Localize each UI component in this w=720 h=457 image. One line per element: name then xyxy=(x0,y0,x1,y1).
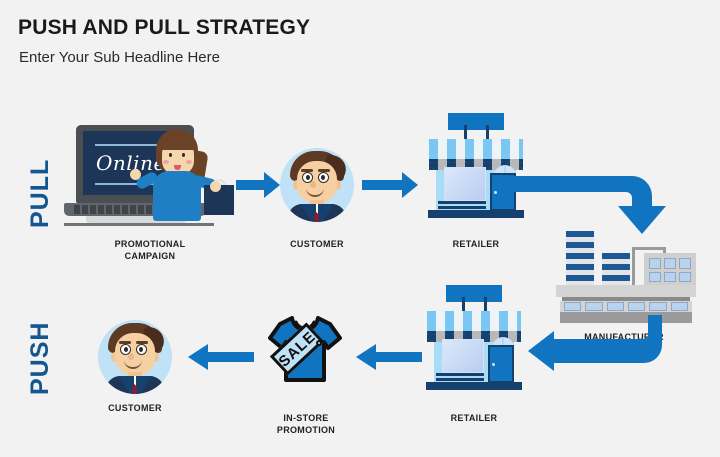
store-display-window-2 xyxy=(442,339,484,373)
avatar-nose xyxy=(310,181,316,188)
page-title: PUSH AND PULL STRATEGY xyxy=(18,16,310,40)
store-step-lower xyxy=(438,206,486,209)
factory-icon[interactable] xyxy=(550,225,698,323)
tshirt-sale-icon[interactable]: SALE xyxy=(266,312,344,390)
avatar-pupil-right-2 xyxy=(139,347,143,352)
avatar-pupil-left xyxy=(306,175,310,180)
store-step-lower-2 xyxy=(436,378,484,381)
factory-pipe-top xyxy=(632,247,666,250)
row-label-pull: PULL xyxy=(26,159,55,228)
woman-cheek-right xyxy=(186,160,192,164)
factory-roof-band xyxy=(556,285,696,297)
woman-eye-right xyxy=(182,153,185,157)
caption-customer-top: CUSTOMER xyxy=(272,238,362,250)
arrow-manufacturer-to-retailer xyxy=(522,315,662,377)
store-step-upper xyxy=(438,201,486,204)
customer-avatar-icon-top[interactable] xyxy=(280,148,354,222)
factory-annex-windows xyxy=(649,258,691,282)
arrow-retailer-to-promotion xyxy=(356,344,422,370)
laptop-online-icon[interactable]: Online xyxy=(64,125,214,225)
woman-cheek-left xyxy=(163,160,169,164)
avatar-pupil-right xyxy=(321,175,325,180)
caption-retailer-bottom: RETAILER xyxy=(426,412,522,424)
caption-in-store-promotion: IN-STORE PROMOTION xyxy=(258,412,354,436)
store-step-upper-2 xyxy=(436,373,484,376)
store-display-window xyxy=(444,167,486,201)
factory-tower-tall xyxy=(566,231,594,287)
woman-hand-right xyxy=(210,181,221,192)
laptop-shelf-line xyxy=(64,223,214,226)
caption-promotional-campaign: PROMOTIONAL CAMPAIGN xyxy=(90,238,210,262)
avatar-circle-top xyxy=(280,148,354,222)
store-awning xyxy=(429,139,523,161)
caption-customer-bottom: CUSTOMER xyxy=(90,402,180,414)
woman-hand-left xyxy=(130,169,141,180)
store-base-2 xyxy=(426,382,522,390)
woman-eye-left xyxy=(169,153,172,157)
factory-pipe-left xyxy=(632,247,635,287)
woman-shopper-figure xyxy=(142,129,216,221)
store-door-knob-2 xyxy=(492,363,495,366)
factory-windows-row xyxy=(564,302,688,311)
customer-avatar-icon-bottom[interactable] xyxy=(98,320,172,394)
store-awning-2 xyxy=(427,311,521,333)
store-icon-retailer-bottom[interactable] xyxy=(422,285,526,393)
woman-fringe xyxy=(159,135,196,150)
slide-canvas: PUSH AND PULL STRATEGY Enter Your Sub He… xyxy=(0,0,720,457)
row-label-push: PUSH xyxy=(26,322,55,395)
store-sign-top xyxy=(448,113,504,130)
store-sign-top-2 xyxy=(446,285,502,302)
arrow-customer-to-retailer xyxy=(362,172,418,198)
avatar-circle-bottom xyxy=(98,320,172,394)
avatar-pupil-left-2 xyxy=(124,347,128,352)
arrow-campaign-to-customer xyxy=(236,172,280,198)
store-door-knob xyxy=(494,191,497,194)
page-subtitle: Enter Your Sub Headline Here xyxy=(19,49,220,66)
arrow-promotion-to-customer xyxy=(188,344,254,370)
avatar-nose-2 xyxy=(128,353,134,360)
factory-tower-short xyxy=(602,253,630,287)
